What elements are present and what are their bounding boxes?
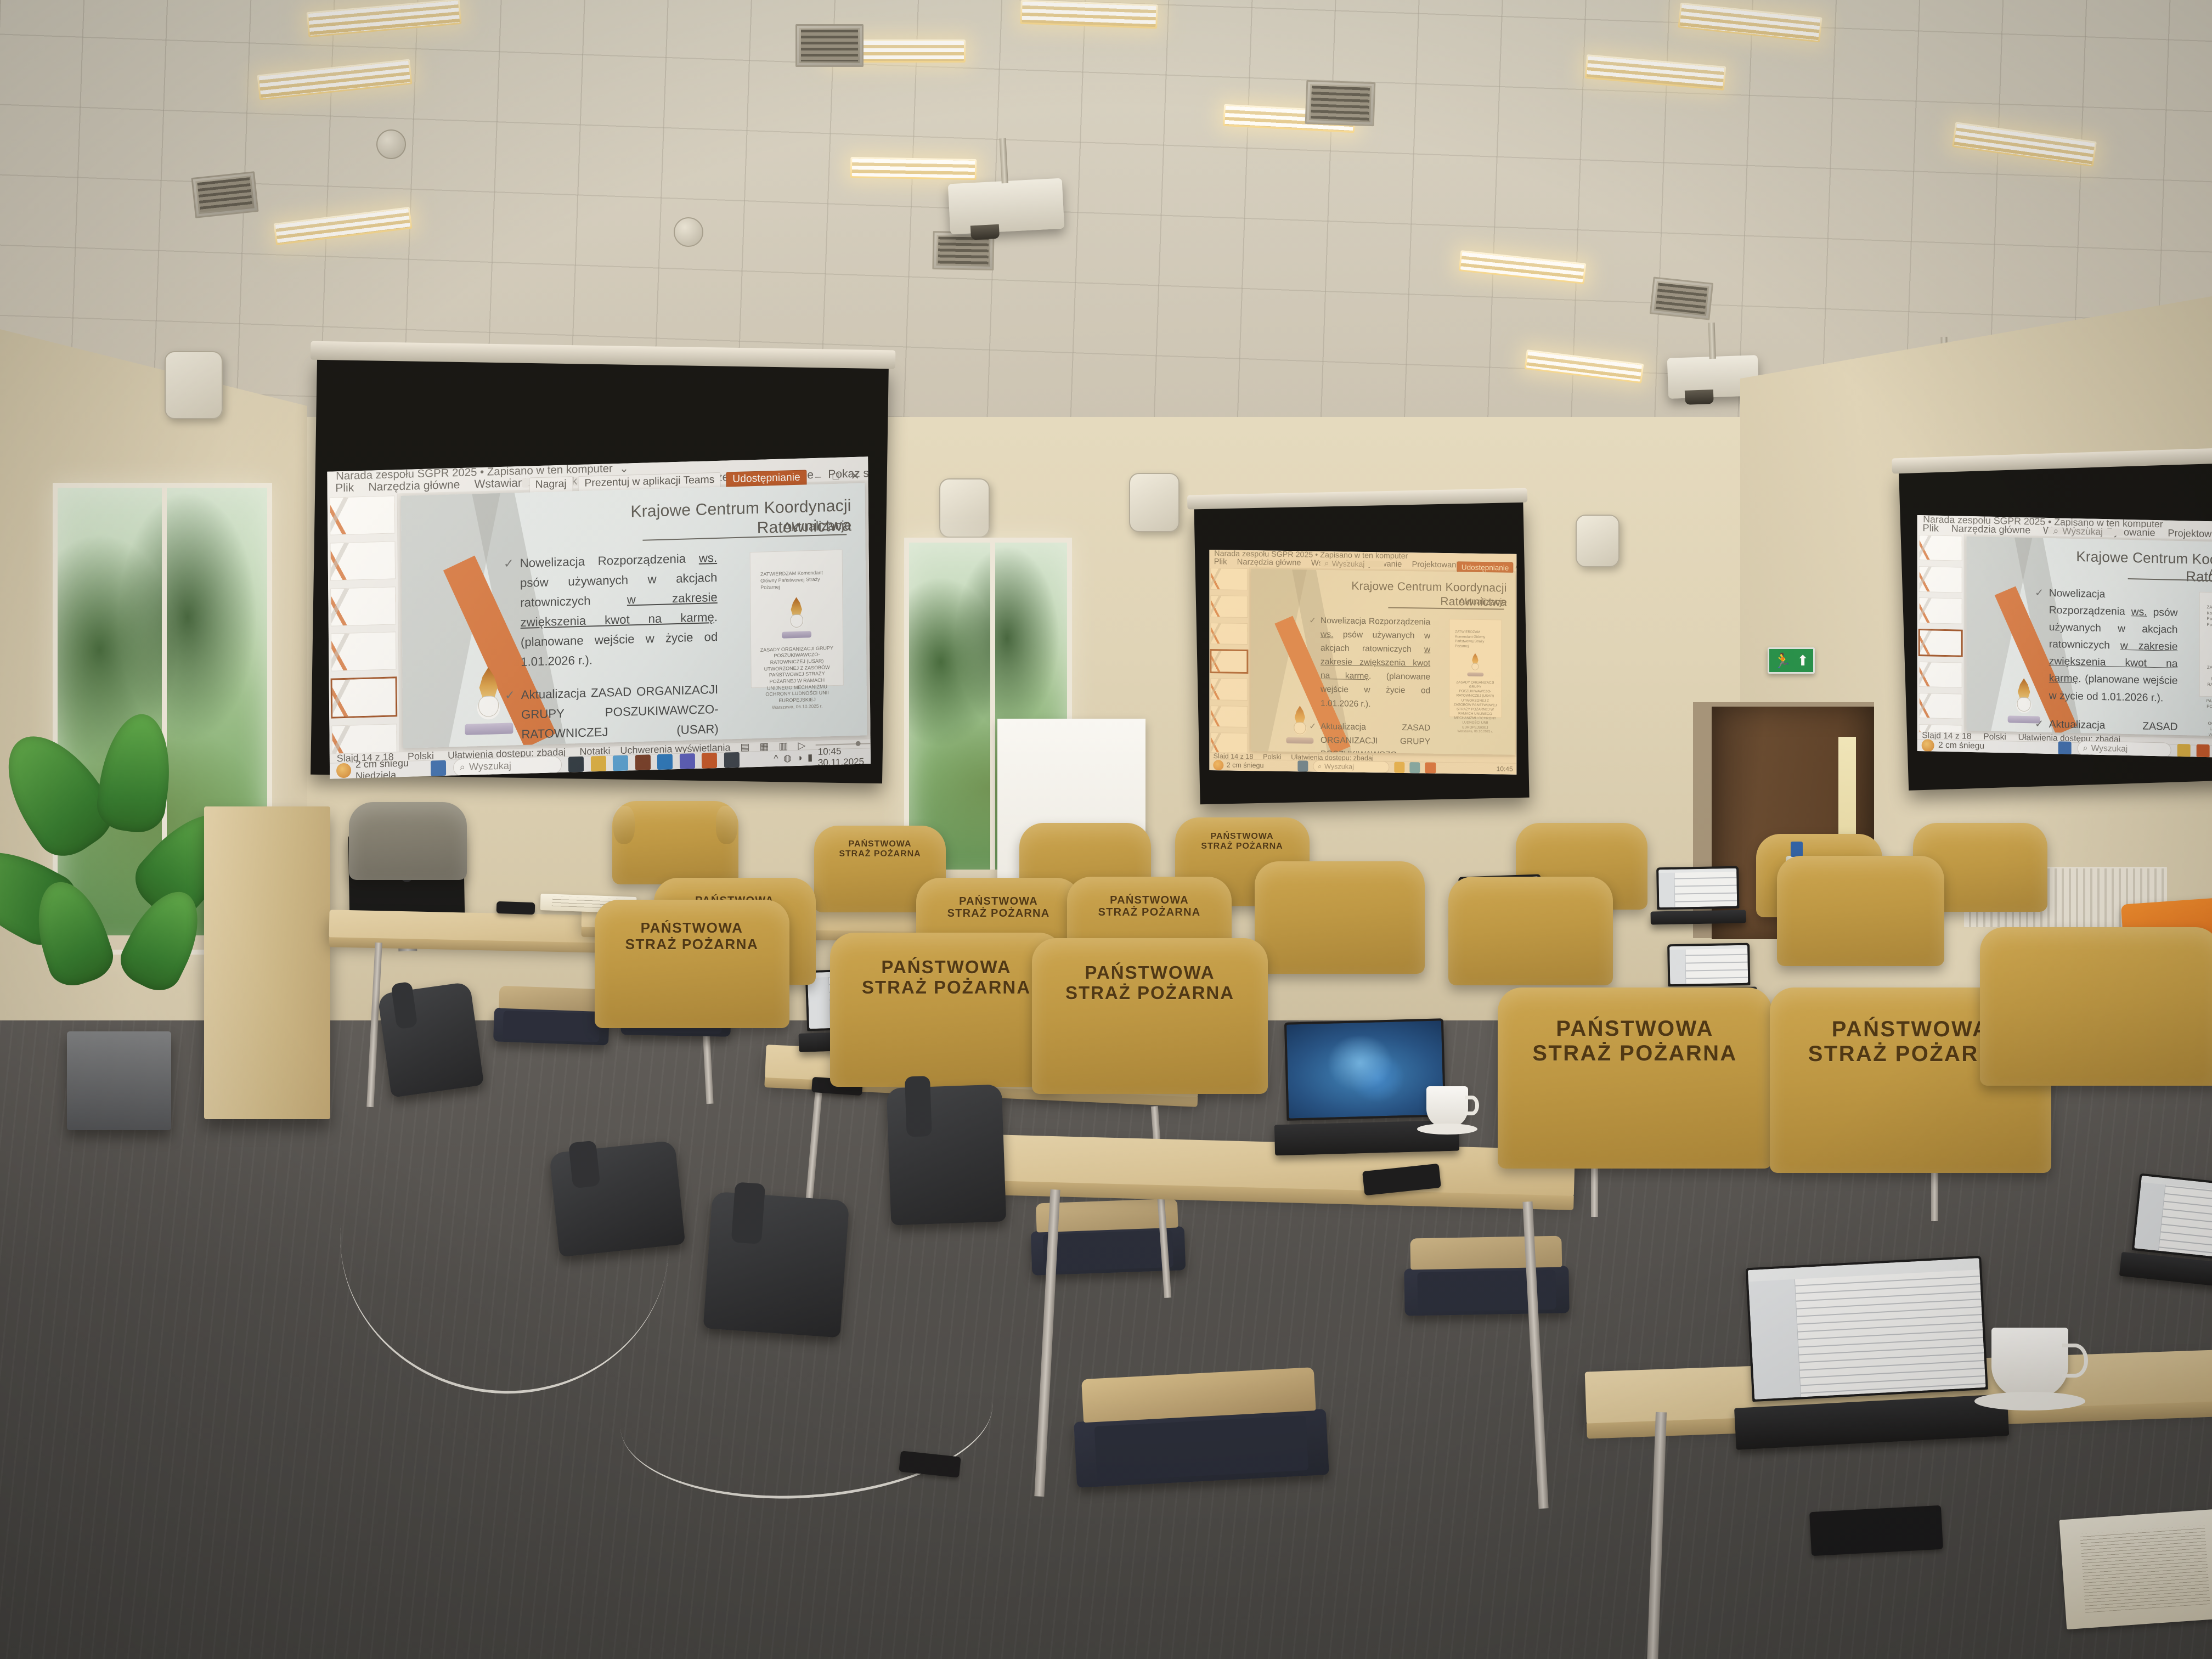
laptop-screen-document: [1658, 868, 1737, 907]
torso-uniform: [612, 801, 738, 884]
laptop-lid: [1656, 866, 1739, 910]
torso-uniform: [1448, 877, 1613, 985]
doc-approval-header: ZATWIERDZAM Komendant Główny Państwowej …: [1455, 630, 1495, 650]
laptop-lid: [1284, 1018, 1446, 1121]
taskview-icon[interactable]: [568, 757, 584, 772]
powerpoint-icon[interactable]: [702, 753, 717, 769]
edge-icon[interactable]: [613, 755, 628, 771]
slide-document-image: ZATWIERDZAM Komendant Główny Państwowej …: [749, 550, 843, 689]
weather-icon: [336, 763, 351, 778]
laptop-screen-document: [1669, 945, 1748, 984]
powerpoint-body: Krajowe Centrum Koordynacji Ratownictwa …: [1917, 533, 2212, 740]
torso-uniform: [1980, 927, 2212, 1086]
doc-caption: ZASADY ORGANIZACJI GRUPY POSZUKIWAWCZO-R…: [1453, 680, 1497, 730]
doc-date: Warszawa, 06.10.2025 r.: [2209, 732, 2212, 737]
projected-powerpoint-center: Narada zespołu SGPR 2025 • Zapisano w te…: [1209, 550, 1516, 775]
slide-bullet-list: ✓ Nowelizacja Rozporządzenia ws. psów uż…: [1309, 613, 1430, 754]
battery-icon[interactable]: ▮: [808, 752, 813, 763]
slide-bullet-list: ✓ Nowelizacja Rozporządzenia ws. psów uż…: [504, 548, 720, 748]
projection-screen-main: Narada zespołu SGPR 2025 • Zapisano w te…: [311, 358, 889, 783]
network-icon[interactable]: ◍: [783, 753, 792, 764]
doc-date: Warszawa, 06.10.2025 r.: [1458, 730, 1493, 733]
torso-uniform: PAŃSTWOWASTRAŻ POŻARNA: [595, 900, 789, 1028]
window-mullion: [990, 543, 995, 884]
slide-thumbnail[interactable]: [330, 586, 396, 626]
slide-thumbnail[interactable]: [1211, 678, 1248, 701]
notebook-foreground: [2059, 1509, 2212, 1629]
wall-speaker: [939, 478, 990, 538]
torso-civilian: [349, 802, 467, 880]
start-icon[interactable]: [2058, 742, 2071, 755]
ceiling-speaker: [376, 129, 406, 159]
slide-thumbnail[interactable]: [330, 541, 396, 580]
ceiling-lamp: [1020, 0, 1158, 29]
uniform-text: PAŃSTWOWASTRAŻ POŻARNA: [1175, 832, 1310, 851]
slide-thumbnail[interactable]: [331, 632, 397, 672]
weather-icon: [1922, 739, 1934, 752]
slide-bullet-1: ✓ Nowelizacja Rozporządzenia ws. psów uż…: [504, 548, 718, 673]
word-icon[interactable]: [657, 754, 673, 770]
doc-caption: ZASADY ORGANIZACJI GRUPY POSZUKIWAWCZO-R…: [758, 645, 836, 704]
slide-thumbnail[interactable]: [1918, 662, 1962, 688]
powerpoint-body: Krajowe Centrum Koordynacji Ratownictwa …: [328, 480, 871, 754]
slide-thumbnail-selected[interactable]: [1211, 650, 1248, 673]
current-slide: Krajowe Centrum Koordynacji Ratownictwa …: [1966, 536, 2212, 737]
uniform-text: PAŃSTWOWASTRAŻ POŻARNA: [1067, 894, 1232, 919]
laptop-right-edge[interactable]: [2129, 1173, 2212, 1290]
weather-widget[interactable]: 2 cm śniegu: [1922, 739, 1984, 753]
bullet-2-text: Aktualizacja ZASAD ORGANIZACJI GRUPY POS…: [521, 680, 720, 748]
taskbar-center-group: ⌕Wyszukaj: [1297, 760, 1436, 774]
potted-plant: [33, 719, 198, 1136]
uniform-text: PAŃSTWOWASTRAŻ POŻARNA: [1032, 963, 1268, 1003]
record-button[interactable]: Nagraj: [529, 476, 573, 493]
uniform-text: PAŃSTWOWASTRAŻ POŻARNA: [830, 957, 1063, 998]
slide-thumbnail[interactable]: [1918, 597, 1962, 624]
backpack-right: [887, 1084, 1007, 1225]
tab-plik[interactable]: Plik: [335, 481, 354, 495]
projected-powerpoint-right: Narada zespołu SGPR 2025 • Zapisano w te…: [1917, 515, 2212, 759]
arrow-up-icon: ⬆: [1797, 653, 1809, 668]
start-icon[interactable]: [431, 760, 446, 776]
slide-document-image: ZATWIERDZAM Komendant Główny Państwowej …: [2199, 591, 2212, 698]
slide-thumbnail[interactable]: [1211, 568, 1248, 590]
backpack-center: [703, 1192, 850, 1338]
search-icon: ⌕: [2083, 744, 2088, 754]
ceiling-speaker: [674, 217, 703, 247]
file-explorer-icon[interactable]: [591, 756, 606, 772]
tab-narzedzia-glowne[interactable]: Narzędzia główne: [1237, 558, 1301, 568]
search-icon: ⌕: [1318, 762, 1322, 770]
powerpoint-window: Narada zespołu SGPR 2025 • Zapisano w te…: [1209, 550, 1516, 775]
air-vent: [1650, 276, 1714, 320]
weather-icon: [1213, 760, 1223, 770]
slide-thumbnail-selected[interactable]: [331, 677, 397, 718]
air-vent: [795, 24, 864, 67]
conference-room-photo: Narada zespołu SGPR 2025 • Zapisano w te…: [0, 0, 2212, 1659]
search-icon: ⌕: [460, 761, 465, 773]
file-explorer-icon[interactable]: [1394, 762, 1405, 773]
plant-leaf: [94, 709, 178, 836]
weather-text: 2 cm śniegu: [1227, 761, 1264, 770]
laptop-back-2[interactable]: [1656, 866, 1740, 925]
slide-editing-stage[interactable]: Krajowe Centrum Koordynacji Ratownictwa …: [1249, 567, 1516, 757]
laptop-screen-document: [1748, 1258, 1986, 1400]
doc-approval-header: ZATWIERDZAM Komendant Główny Państwowej …: [760, 569, 832, 591]
chair-empty[interactable]: [1404, 1266, 1569, 1316]
laptop-lid: [1746, 1256, 1988, 1402]
current-slide: Krajowe Centrum Koordynacji Ratownictwa …: [401, 483, 867, 748]
projection-screen-center: Narada zespołu SGPR 2025 • Zapisano w te…: [1194, 501, 1529, 804]
doc-caption: ZASADY ORGANIZACJI GRUPY POSZUKIWAWCZO-R…: [2205, 665, 2212, 732]
laptop-screen-document: [2134, 1176, 2212, 1261]
coffee-mug: [1426, 1086, 1468, 1128]
psp-emblem-large: [458, 667, 519, 740]
check-icon: ✓: [1309, 613, 1316, 710]
slide-thumbnail-panel[interactable]: [1209, 567, 1249, 753]
powerpoint-icon[interactable]: [2197, 744, 2210, 758]
slide-thumbnail[interactable]: [1211, 595, 1248, 618]
plant-pot: [67, 1031, 171, 1130]
torso-uniform: PAŃSTWOWASTRAŻ POŻARNA: [1032, 938, 1268, 1094]
powerpoint-icon[interactable]: [1425, 763, 1436, 774]
laptop-win11[interactable]: [1284, 1018, 1447, 1155]
laptop-keyboard[interactable]: [1651, 910, 1746, 925]
chair-empty[interactable]: [493, 1007, 610, 1045]
wall-speaker: [1576, 515, 1620, 567]
slide-thumbnail[interactable]: [1918, 535, 1962, 561]
check-icon: ✓: [504, 554, 515, 672]
slide-thumbnail-panel[interactable]: [1917, 533, 1965, 733]
phone-foreground: [1809, 1505, 1943, 1556]
outlook-icon[interactable]: [635, 754, 651, 770]
chair-foreground-empty[interactable]: [1074, 1409, 1329, 1488]
projector-lens: [1685, 390, 1714, 405]
ceiling-lamp: [850, 157, 977, 180]
backpack-front: [377, 981, 484, 1098]
search-icon: ⌕: [1324, 558, 1329, 568]
maximize-icon[interactable]: □: [830, 471, 842, 483]
current-slide: Krajowe Centrum Koordynacji Ratownictwa …: [1251, 569, 1515, 755]
system-tray: ^ ◍ ◑ ▮ 10:45 30.11.2025: [774, 745, 864, 770]
psp-emblem-large: [1283, 706, 1317, 747]
lectern-podium: [204, 806, 330, 1119]
teams-icon[interactable]: [680, 753, 695, 769]
torso-uniform: PAŃSTWOWASTRAŻ POŻARNA: [1498, 988, 1772, 1169]
torso-uniform: PAŃSTWOWASTRAŻ POŻARNA: [830, 933, 1063, 1087]
weather-widget[interactable]: 2 cm śniegu: [1213, 760, 1263, 771]
slide-thumbnail[interactable]: [1918, 724, 1962, 732]
doc-approval-header: ZATWIERDZAM Komendant Główny Państwowej …: [2207, 605, 2212, 629]
torso-uniform: [1777, 856, 1944, 966]
wall-speaker: [1129, 473, 1180, 532]
search-input[interactable]: ⌕ Wyszukaj: [1320, 560, 1385, 568]
psp-emblem: [1465, 653, 1486, 678]
slide-thumbnail[interactable]: [1211, 706, 1248, 728]
slide-bullet-list: ✓ Nowelizacja Rozporządzenia ws. psów uż…: [2035, 584, 2177, 737]
slide-thumbnail-selected[interactable]: [1918, 629, 1962, 657]
slide-editing-stage[interactable]: Krajowe Centrum Koordynacji Ratownictwa …: [398, 480, 871, 752]
edge-icon[interactable]: [1409, 762, 1420, 773]
slide-editing-stage[interactable]: Krajowe Centrum Koordynacji Ratownictwa …: [1964, 534, 2212, 739]
laptop-lid: [1667, 943, 1750, 987]
slide-thumbnail[interactable]: [330, 496, 396, 535]
clock[interactable]: 10:45: [1497, 765, 1513, 772]
phone-front: [496, 901, 535, 915]
tab-animacje[interactable]: Animacje: [1515, 562, 1516, 571]
projection-screen-right: Narada zespołu SGPR 2025 • Zapisano w te…: [1899, 460, 2212, 791]
tab-narzedzia-glowne[interactable]: Narzędzia główne: [1951, 523, 2031, 536]
weather-text: 2 cm śniegu Niedziela: [356, 758, 409, 779]
uniform-text: PAŃSTWOWASTRAŻ POŻARNA: [595, 920, 789, 952]
powerpoint-window: Narada zespołu SGPR 2025 • Zapisano w te…: [327, 456, 871, 779]
taskbar-search-input[interactable]: ⌕Wyszukaj: [2077, 741, 2171, 758]
settings-icon[interactable]: [724, 752, 740, 768]
slide-thumbnail-panel[interactable]: [328, 493, 400, 754]
torso-uniform: [1255, 861, 1425, 974]
slide-bullet-2: ✓ Aktualizacja ZASAD ORGANIZACJI GRUPY P…: [505, 680, 720, 748]
bullet-2-text: Aktualizacja ZASAD ORGANIZACJI GRUPY POS…: [1321, 720, 1430, 755]
tab-narzedzia-glowne[interactable]: Narzędzia główne: [368, 478, 460, 494]
close-icon[interactable]: ✕: [848, 470, 863, 483]
weather-widget[interactable]: 2 cm śniegu Niedziela: [336, 758, 409, 779]
ceiling-projector: [948, 178, 1065, 235]
coffee-mug-foreground: [1991, 1328, 2068, 1399]
chevron-up-icon[interactable]: ^: [774, 753, 778, 764]
taskbar-center-group: ⌕Wyszukaj: [2058, 741, 2210, 759]
search-icon: ⌕: [2053, 525, 2059, 537]
air-vent: [191, 171, 258, 218]
air-vent: [1305, 80, 1376, 126]
slide-document-image: ZATWIERDZAM Komendant Główny Państwowej …: [1449, 619, 1502, 718]
tab-projektowanie[interactable]: Projektowanie: [2168, 528, 2212, 540]
file-explorer-icon[interactable]: [2177, 744, 2191, 758]
wall-speaker: [165, 351, 223, 419]
doc-date: Warszawa, 06.10.2025 r.: [772, 703, 822, 710]
emergency-exit-sign: 🏃 ⬆: [1768, 647, 1815, 674]
psp-emblem: [778, 597, 815, 641]
uniform-text: PAŃSTWOWASTRAŻ POŻARNA: [814, 839, 946, 859]
taskbar-search-input[interactable]: ⌕ Wyszukaj: [453, 756, 562, 777]
projector-lens: [970, 224, 1000, 240]
clock[interactable]: 10:45 30.11.2025: [818, 745, 865, 768]
tab-plik[interactable]: Plik: [1923, 522, 1939, 534]
bullet-1-text: Nowelizacja Rozporządzenia ws. psów używ…: [2049, 585, 2178, 707]
projected-powerpoint-main: Narada zespołu SGPR 2025 • Zapisano w te…: [327, 456, 871, 779]
taskbar-search-input[interactable]: ⌕Wyszukaj: [1313, 760, 1389, 774]
slide-thumbnail[interactable]: [1918, 693, 1962, 719]
slide-thumbnail[interactable]: [1918, 566, 1962, 592]
slide-thumbnail[interactable]: [1211, 733, 1248, 753]
laptop-lid: [2132, 1173, 2212, 1263]
slide-thumbnail[interactable]: [331, 724, 397, 754]
system-tray: 10:45: [1497, 765, 1513, 772]
uniform-text: PAŃSTWOWASTRAŻ POŻARNA: [916, 895, 1081, 920]
tab-plik[interactable]: Plik: [1214, 557, 1227, 566]
powerpoint-body: Krajowe Centrum Koordynacji Ratownictwa …: [1209, 567, 1516, 757]
minimize-icon[interactable]: –: [812, 471, 824, 484]
powerpoint-window: Narada zespołu SGPR 2025 • Zapisano w te…: [1917, 515, 2212, 759]
bullet-1-text: Nowelizacja Rozporządzenia ws. psów używ…: [1321, 613, 1430, 712]
tab-projektowanie[interactable]: Projektowanie: [1412, 560, 1463, 569]
laptop-screen-windows11-wallpaper: [1286, 1020, 1443, 1118]
running-man-icon: 🏃: [1774, 653, 1791, 668]
psp-emblem-large: [2004, 678, 2044, 726]
start-icon[interactable]: [1297, 761, 1308, 772]
volume-icon[interactable]: ◑: [797, 753, 803, 764]
uniform-text: PAŃSTWOWASTRAŻ POŻARNA: [1498, 1017, 1772, 1066]
laptop-foreground-doc[interactable]: [1746, 1256, 1991, 1449]
bullet-1-text: Nowelizacja Rozporządzenia ws. psów używ…: [520, 548, 718, 672]
projector-mount: [1708, 323, 1716, 359]
slide-thumbnail[interactable]: [1211, 623, 1248, 645]
